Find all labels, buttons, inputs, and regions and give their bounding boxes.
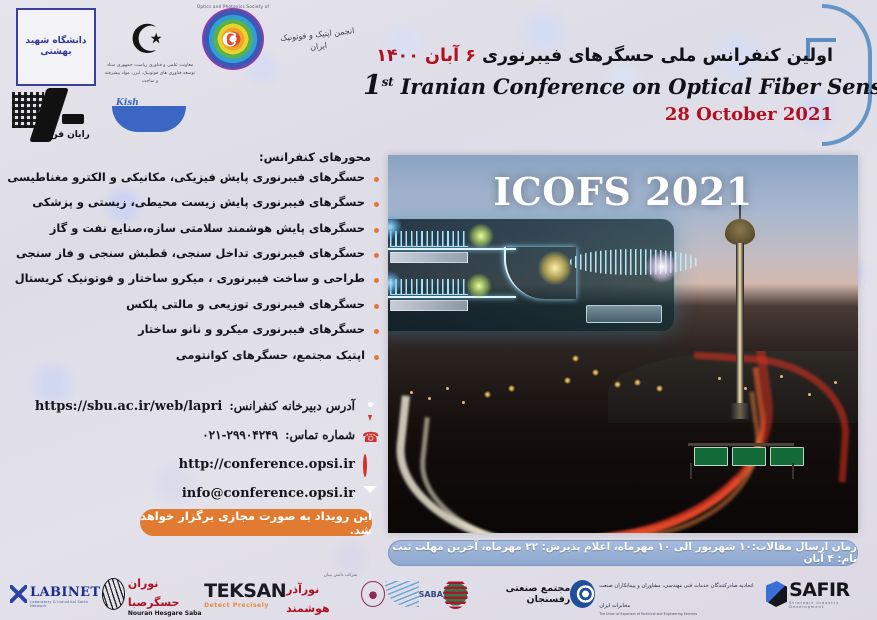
virtual-event-badge: این رویداد به صورت مجازی برگزار خواهد شد… [140, 509, 372, 536]
opsi-logo-letter: C [222, 29, 237, 51]
city-light [428, 397, 431, 400]
labinet-name: LABINET [30, 585, 101, 600]
nouran-name-english: Nouran Hesgare Saba [128, 610, 204, 617]
location-pin-icon [362, 398, 379, 415]
rayan-fan-label: رایان فن [50, 130, 90, 140]
street-light [564, 377, 571, 384]
teksan-name: TEKSAN [204, 580, 286, 602]
shahid-beheshti-university-logo: دانشگاه شهید بهشتی [16, 8, 96, 86]
nouran-name-farsi: نوران حسگرصبا [128, 577, 180, 609]
highway-night-scene [388, 351, 858, 533]
title-ordinal-suffix: st [382, 75, 394, 89]
decorative-bracket-tail [806, 38, 836, 42]
contact-block: https://sbu.ac.ir/web/lapri آدرس دبیرخان… [0, 396, 379, 512]
light-glow [466, 273, 492, 299]
kish-mechatronics-logo: Kish Mechatronics [112, 92, 192, 138]
sponsor-telecom-exporters-union-logo: اتحادیه صادرکنندگان خدمات فنی مهندسی، مش… [570, 574, 765, 614]
nouran-text-wrap: نوران حسگرصبا Nouran Hesgare Saba [128, 572, 204, 617]
photonic-chip-graphic [388, 219, 674, 331]
sponsor-safir-logo: SAFIR Strategic Industry Development [766, 574, 867, 614]
grating-bar-bottom [390, 300, 468, 311]
street-light [656, 385, 663, 392]
topic-item: حسگرهای فیبرنوری پایش زیست محیطی، زیستی … [0, 197, 379, 209]
topic-item: حسگرهای فیبرنوری توزیعی و مالتی پلکس [0, 299, 379, 311]
union-swirl-icon [570, 580, 595, 608]
sponsor-rafsanjan-industrial-complex-logo: مجتمع صنعتی رفسنجان [443, 574, 570, 614]
light-glow [538, 251, 572, 285]
safir-subtitle: Strategic Industry Development [789, 601, 867, 609]
labinet-mark-icon [10, 585, 27, 603]
tower-shaft [736, 243, 744, 419]
envelope-icon [362, 485, 379, 502]
sponsor-labinet-logo: LABINET Laboratory & Industrial Sales Ne… [10, 574, 102, 614]
iran-emblem-glyph: ☪ [129, 20, 165, 60]
conference-date-english: 28 October 2021 [363, 104, 833, 125]
light-glow [646, 251, 678, 283]
conference-website-link[interactable]: http://conference.opsi.ir [179, 457, 355, 472]
nooratar-name-farsi: نورآذر هوشمند [286, 583, 330, 615]
nooratar-mark-icon [361, 581, 384, 607]
waveguide-line-bottom [388, 296, 516, 298]
topic-item: طراحی و ساخت فیبرنوری ، میکرو ساختار و ف… [0, 273, 379, 285]
street-light [614, 381, 621, 388]
tower-observation-pod [725, 219, 755, 245]
sponsor-saba-logo: SABA [385, 574, 443, 614]
sponsor-teksan-logo: TEKSAN Detect Precisely [204, 574, 286, 614]
icofs-acronym-title: ICOFS 2021 [388, 169, 858, 214]
kish-mechatronics-label: Kish Mechatronics [116, 98, 192, 118]
city-light [462, 401, 465, 404]
sponsor-nouran-hesgare-saba-logo: نوران حسگرصبا Nouran Hesgare Saba [102, 574, 205, 614]
sbu-logo-text: دانشگاه شهید بهشتی [18, 36, 94, 59]
street-light [484, 391, 491, 398]
title-english-text: Iranian Conference on Optical Fiber Sens… [394, 74, 877, 99]
secretariat-address-label: آدرس دبیرخانه کنفرانس: [229, 399, 355, 413]
title-block: اولین کنفرانس ملی حسگرهای فیبرنوری ۶ آبا… [363, 46, 833, 125]
safir-text-wrap: SAFIR Strategic Industry Development [789, 579, 867, 609]
contact-row-phone: ۰۲۱-۲۹۹۰۴۲۴۹ شماره تماس: ☎ [0, 425, 379, 445]
topic-item: حسگرهای فیبرنوری تداخل سنجی، قطبش سنجی و… [0, 248, 379, 260]
conference-title-english: 1st Iranian Conference on Optical Fiber … [363, 70, 833, 101]
caliper-icon [586, 305, 662, 323]
contact-row-website: http://conference.opsi.ir [0, 454, 379, 474]
street-light [592, 369, 599, 376]
labinet-subtitle: Laboratory & Industrial Sales Network [30, 600, 102, 608]
conference-date-farsi: ۶ آبان ۱۴۰۰ [376, 46, 476, 66]
safir-name: SAFIR [789, 579, 850, 601]
title-ordinal-number: 1 [363, 70, 382, 101]
highway-sign [770, 447, 804, 466]
contact-row-email: info@conference.opsi.ir [0, 483, 379, 503]
header-logo-row: دانشگاه شهید بهشتی ☪ معاونت علمی و فناور… [0, 0, 400, 150]
topic-item: اپتیک مجتمع، حسگرهای کوانتومی [0, 350, 379, 362]
union-name-farsi: اتحادیه صادرکنندگان خدمات فنی مهندسی، مش… [599, 583, 753, 609]
nooratar-text-wrap: شرکت دانش بنیان نورآذر هوشمند [286, 573, 357, 616]
contact-row-address: https://sbu.ac.ir/web/lapri آدرس دبیرخان… [0, 396, 379, 416]
iran-emblem-caption: معاونت علمی و فناوری ریاست جمهوری ستاد ت… [104, 62, 196, 85]
saba-name: SABA [419, 590, 443, 599]
city-light [446, 387, 449, 390]
labinet-text-wrap: LABINET Laboratory & Industrial Sales Ne… [30, 581, 102, 608]
rafsanjan-mark-icon [443, 579, 468, 609]
rayan-fan-logo: رایان فن [10, 88, 106, 144]
globe-icon [362, 456, 379, 473]
saba-swoosh-icon [385, 581, 419, 607]
waveguide-coil-top [390, 231, 468, 247]
sponsor-footer: LABINET Laboratory & Industrial Sales Ne… [0, 568, 877, 620]
union-text-wrap: اتحادیه صادرکنندگان خدمات فنی مهندسی، مش… [599, 572, 766, 616]
milad-tower-graphic [718, 187, 764, 417]
sponsor-nooratar-hooshmand-logo: شرکت دانش بنیان نورآذر هوشمند [286, 574, 385, 614]
deadline-bar: زمان ارسال مقالات:۱۰ شهریور الی ۱۰ مهرما… [388, 540, 858, 566]
rayan-dash-mark [62, 114, 84, 124]
secretariat-url[interactable]: https://sbu.ac.ir/web/lapri [35, 399, 223, 414]
phone-label: شماره تماس: [285, 428, 355, 442]
opsi-calligraphy-logo: انجمن اپتیک و فوتونیک ایران [269, 5, 367, 76]
highway-sign [732, 447, 766, 466]
conference-poster: دانشگاه شهید بهشتی ☪ معاونت علمی و فناور… [0, 0, 877, 620]
iran-national-emblem-icon: ☪ [118, 14, 176, 66]
topic-item: حسگرهای فیبرنوری میکرو و نانو ساختار [0, 324, 379, 336]
sign-post [792, 463, 794, 479]
phone-number-value: ۰۲۱-۲۹۹۰۴۲۴۹ [202, 428, 278, 442]
light-glow [468, 223, 494, 249]
street-light [572, 355, 579, 362]
conference-title-farsi: اولین کنفرانس ملی حسگرهای فیبرنوری ۶ آبا… [363, 46, 833, 68]
city-light [834, 381, 837, 384]
teksan-text-wrap: TEKSAN Detect Precisely [204, 580, 286, 609]
city-light [808, 393, 811, 396]
nouran-globe-icon [102, 578, 125, 610]
tower-base [730, 403, 750, 419]
phone-icon: ☎ [362, 427, 379, 444]
teksan-tagline: Detect Precisely [204, 602, 286, 609]
street-light [508, 385, 515, 392]
topics-heading: محورهای کنفرانس: [259, 150, 371, 164]
rafsanjan-name-farsi: مجتمع صنعتی رفسنجان [471, 583, 570, 605]
conference-hero-image: ICOFS 2021 [388, 155, 858, 533]
safir-mark-icon [766, 581, 787, 607]
topics-list: حسگرهای فیبرنوری پایش فیزیکی، مکانیکی و … [0, 172, 379, 375]
city-light [780, 375, 783, 378]
conference-email-link[interactable]: info@conference.opsi.ir [182, 486, 355, 501]
city-light [410, 391, 413, 394]
sign-gantry [688, 443, 794, 446]
street-light [634, 379, 641, 386]
nooratar-subtitle: شرکت دانش بنیان [286, 573, 357, 578]
highway-sign [694, 447, 728, 466]
union-name-english: The Union of Exporters of Technical and … [599, 612, 766, 616]
grating-bar-top [390, 252, 468, 263]
topic-item: حسگرهای فیبرنوری پایش فیزیکی، مکانیکی و … [0, 172, 379, 184]
topic-item: حسگرهای پایش هوشمند سلامتی سازه،صنایع نف… [0, 223, 379, 235]
title-farsi-text: اولین کنفرانس ملی حسگرهای فیبرنوری [482, 46, 833, 66]
optical-signal-waveform [570, 249, 698, 275]
waveguide-line-top [388, 248, 516, 250]
sign-post [690, 463, 692, 479]
